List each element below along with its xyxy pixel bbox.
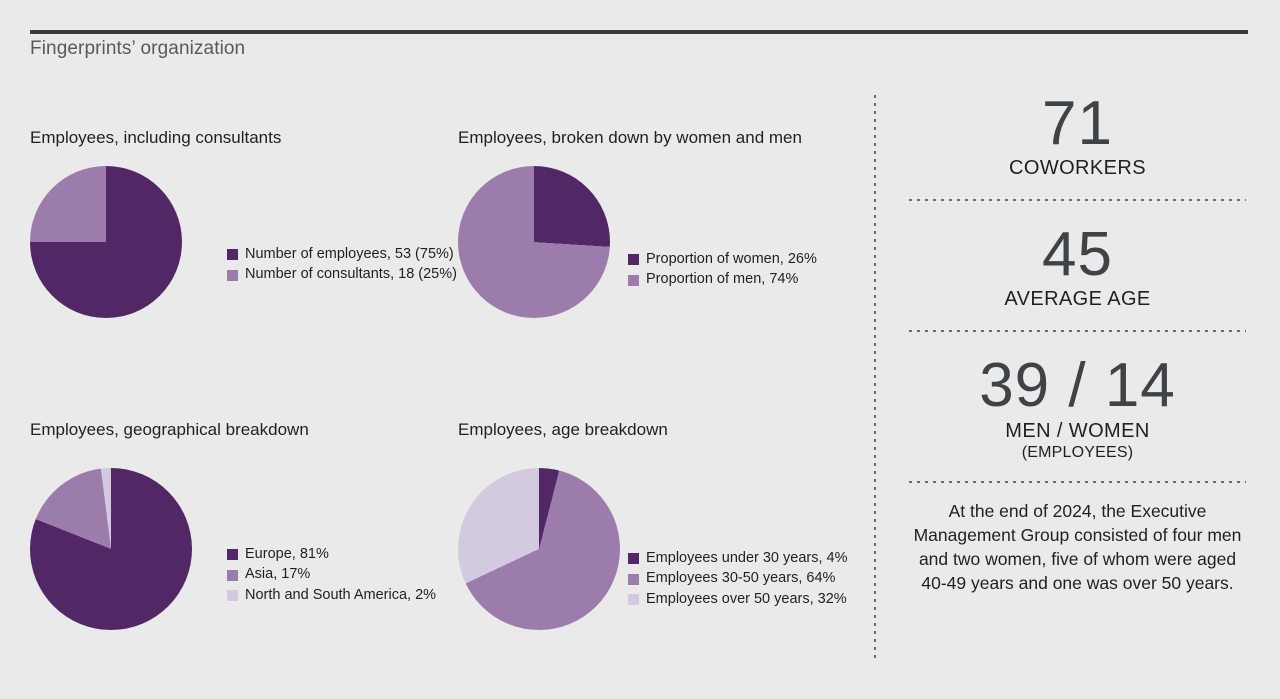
legend-swatch-icon	[227, 549, 238, 560]
stat-average-age: 45 AVERAGE AGE	[905, 217, 1250, 311]
pie-chart-age	[458, 468, 620, 630]
legend-swatch-icon	[628, 254, 639, 265]
stat-coworkers-label: COWORKERS	[905, 157, 1250, 180]
legend-label: Asia, 17%	[245, 566, 310, 583]
legend-geography: Europe, 81%Asia, 17%North and South Amer…	[227, 546, 436, 604]
legend-item: Employees over 50 years, 32%	[628, 591, 848, 608]
legend-item: Proportion of men, 74%	[628, 271, 817, 288]
legend-employees: Number of employees, 53 (75%)Number of c…	[227, 246, 457, 284]
legend-item: Employees under 30 years, 4%	[628, 550, 848, 567]
legend-swatch-icon	[227, 570, 238, 581]
legend-item: Number of consultants, 18 (25%)	[227, 266, 457, 283]
page-title: Fingerprints’ organization	[30, 38, 245, 60]
legend-label: Employees 30-50 years, 64%	[646, 570, 835, 587]
stat-men-women-sublabel: (EMPLOYEES)	[905, 444, 1250, 462]
legend-item: Number of employees, 53 (75%)	[227, 246, 457, 263]
chart-employees-including-consultants: Employees, including consultants Number …	[30, 128, 450, 338]
legend-item: North and South America, 2%	[227, 587, 436, 604]
legend-gender: Proportion of women, 26%Proportion of me…	[628, 251, 817, 289]
pie-chart-gender	[458, 166, 610, 318]
infographic-page: Fingerprints’ organization Employees, in…	[0, 0, 1280, 699]
legend-label: Proportion of women, 26%	[646, 251, 817, 268]
pie-chart-geography	[30, 468, 192, 630]
stat-divider-2	[909, 330, 1246, 332]
legend-item: Asia, 17%	[227, 566, 436, 583]
stat-men-women-label: MEN / WOMEN	[905, 420, 1250, 443]
header-rule	[30, 30, 1248, 34]
legend-label: Number of consultants, 18 (25%)	[245, 266, 457, 283]
legend-swatch-icon	[628, 594, 639, 605]
legend-label: Europe, 81%	[245, 546, 329, 563]
stat-divider-3	[909, 481, 1246, 483]
stat-men-women-number: 39 / 14	[905, 354, 1250, 417]
legend-swatch-icon	[628, 574, 639, 585]
legend-item: Proportion of women, 26%	[628, 251, 817, 268]
pie-chart-employees	[30, 166, 182, 318]
legend-label: Proportion of men, 74%	[646, 271, 798, 288]
stat-men-women: 39 / 14 MEN / WOMEN (EMPLOYEES)	[905, 348, 1250, 461]
legend-label: North and South America, 2%	[245, 587, 436, 604]
stat-coworkers-number: 71	[905, 92, 1250, 155]
stat-average-age-label: AVERAGE AGE	[905, 288, 1250, 311]
chart-title: Employees, including consultants	[30, 128, 281, 148]
key-figures-panel: 71 COWORKERS 45 AVERAGE AGE 39 / 14 MEN …	[905, 90, 1250, 595]
legend-swatch-icon	[227, 590, 238, 601]
chart-title: Employees, broken down by women and men	[458, 128, 802, 148]
legend-swatch-icon	[227, 270, 238, 281]
legend-label: Number of employees, 53 (75%)	[245, 246, 454, 263]
legend-label: Employees under 30 years, 4%	[646, 550, 848, 567]
chart-title: Employees, age breakdown	[458, 420, 668, 440]
chart-employees-age-breakdown: Employees, age breakdown Employees under…	[458, 420, 878, 645]
chart-employees-geographical-breakdown: Employees, geographical breakdown Europe…	[30, 420, 450, 645]
stat-coworkers: 71 COWORKERS	[905, 90, 1250, 180]
chart-title: Employees, geographical breakdown	[30, 420, 309, 440]
legend-swatch-icon	[227, 249, 238, 260]
legend-swatch-icon	[628, 275, 639, 286]
legend-label: Employees over 50 years, 32%	[646, 591, 847, 608]
chart-employees-by-women-and-men: Employees, broken down by women and men …	[458, 128, 878, 338]
stat-divider-1	[909, 199, 1246, 201]
executive-management-note: At the end of 2024, the Executive Manage…	[905, 499, 1250, 596]
vertical-divider	[874, 95, 876, 659]
legend-swatch-icon	[628, 553, 639, 564]
stat-average-age-number: 45	[905, 223, 1250, 286]
legend-item: Europe, 81%	[227, 546, 436, 563]
legend-age: Employees under 30 years, 4%Employees 30…	[628, 550, 848, 608]
legend-item: Employees 30-50 years, 64%	[628, 570, 848, 587]
